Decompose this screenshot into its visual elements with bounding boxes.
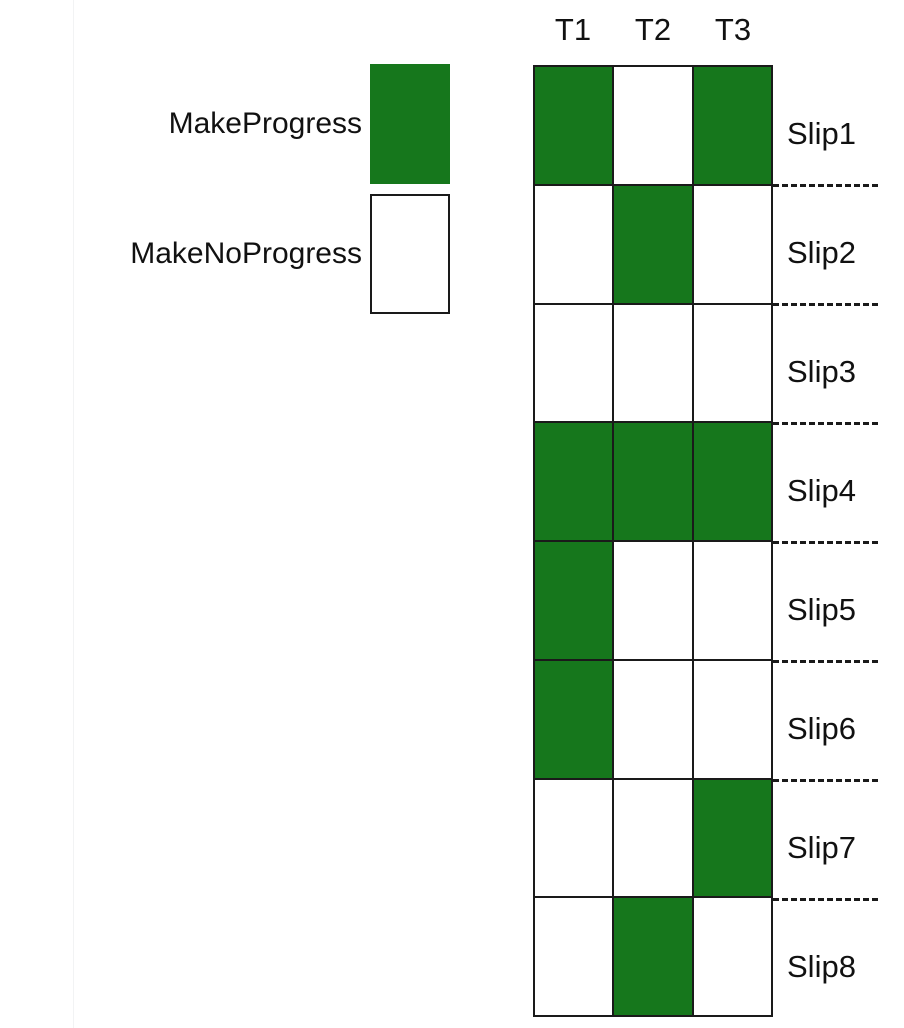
matrix: T1 T2 T3 [533, 65, 773, 1017]
legend-item-make-progress: MakeProgress [80, 60, 450, 188]
matrix-cell [614, 780, 693, 897]
matrix-cell [535, 898, 614, 1015]
row-leader-line [773, 779, 878, 782]
row-leader-line [773, 422, 878, 425]
row-label-slip5: Slip5 [787, 594, 904, 625]
row-label-slip7: Slip7 [787, 832, 904, 863]
matrix-cell [694, 423, 771, 540]
column-header-row: T1 T2 T3 [533, 7, 773, 53]
matrix-cell [694, 305, 771, 422]
row-label-slip6: Slip6 [787, 713, 904, 744]
row-leader-line [773, 184, 878, 187]
row-label-slip4: Slip4 [787, 475, 904, 506]
legend-item-make-no-progress: MakeNoProgress [80, 190, 450, 318]
matrix-cell [694, 542, 771, 659]
matrix-row [535, 186, 771, 305]
matrix-cell [614, 186, 693, 303]
row-leader-line [773, 898, 878, 901]
column-header-t2: T2 [613, 7, 693, 53]
column-header-t3: T3 [693, 7, 773, 53]
row-label-slip2: Slip2 [787, 237, 904, 268]
matrix-cell [614, 423, 693, 540]
matrix-cell [614, 305, 693, 422]
row-label-slip3: Slip3 [787, 356, 904, 387]
legend: MakeProgress MakeNoProgress [80, 60, 450, 330]
matrix-cell [694, 780, 771, 897]
matrix-row [535, 423, 771, 542]
matrix-cell [535, 780, 614, 897]
matrix-cell [535, 67, 614, 184]
matrix-cell [535, 542, 614, 659]
matrix-cell [614, 661, 693, 778]
page-edge-rule [73, 0, 74, 1028]
matrix-cell [694, 67, 771, 184]
matrix-cell [535, 661, 614, 778]
matrix-row [535, 898, 771, 1015]
matrix-cell [614, 67, 693, 184]
matrix-row [535, 542, 771, 661]
matrix-grid [533, 65, 773, 1017]
column-header-t1: T1 [533, 7, 613, 53]
matrix-row [535, 305, 771, 424]
matrix-cell [694, 186, 771, 303]
legend-item-label: MakeNoProgress [130, 239, 370, 269]
row-leader-line [773, 541, 878, 544]
matrix-cell [614, 898, 693, 1015]
matrix-cell [694, 661, 771, 778]
row-leader-line [773, 660, 878, 663]
matrix-cell [535, 305, 614, 422]
matrix-row [535, 661, 771, 780]
row-label-slip8: Slip8 [787, 951, 904, 982]
matrix-cell [535, 186, 614, 303]
matrix-cell [694, 898, 771, 1015]
legend-swatch-filled-green-square [370, 64, 450, 184]
row-label-slip1: Slip1 [787, 118, 904, 149]
matrix-row [535, 780, 771, 899]
row-leader-line [773, 303, 878, 306]
matrix-cell [614, 542, 693, 659]
chart-canvas: MakeProgress MakeNoProgress T1 T2 T3 [0, 0, 904, 1028]
legend-item-label: MakeProgress [169, 109, 370, 139]
matrix-row [535, 67, 771, 186]
matrix-cell [535, 423, 614, 540]
legend-swatch-empty-white-square [370, 194, 450, 314]
